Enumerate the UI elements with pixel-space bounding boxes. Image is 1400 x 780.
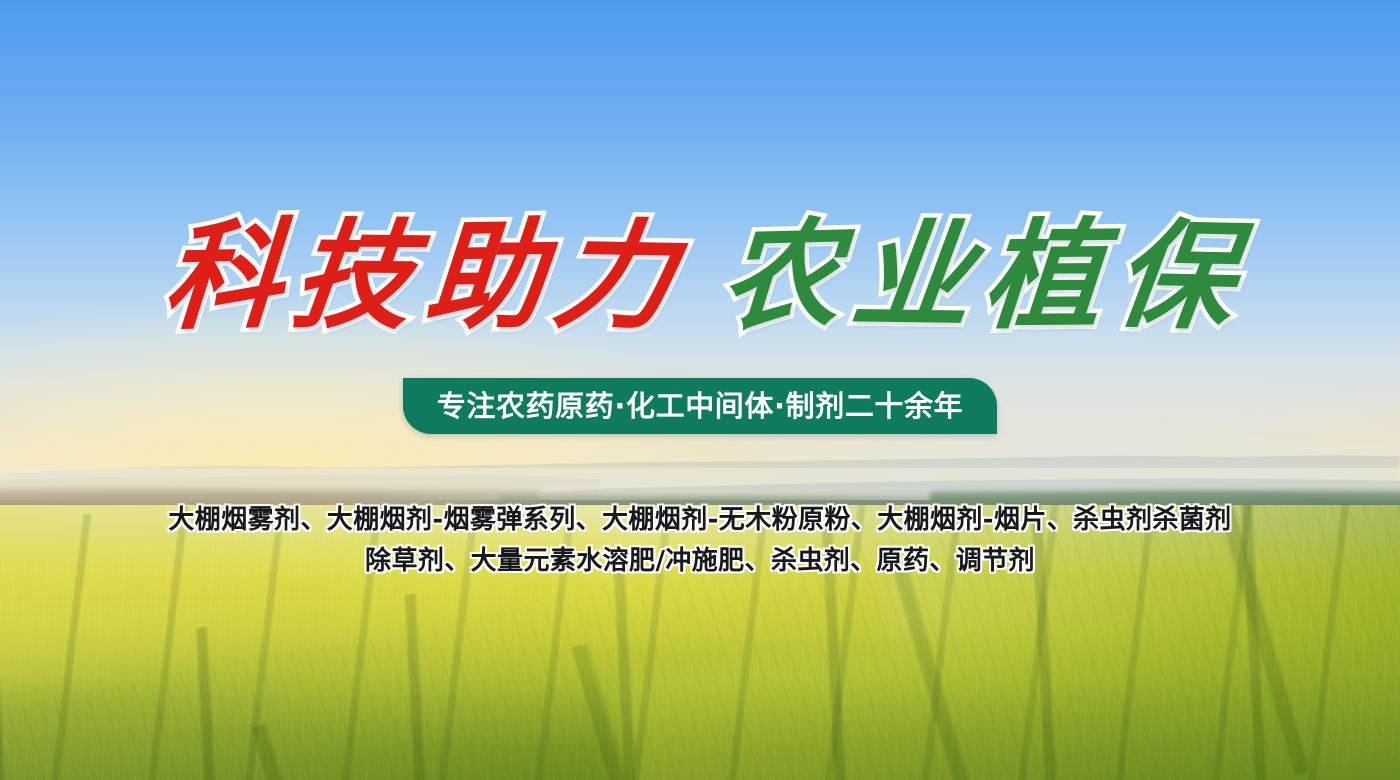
- subtitle-pill: 专注农药原药·化工中间体·制剂二十余年: [403, 378, 997, 434]
- title-char-1: 科: [159, 205, 288, 347]
- hero-banner: 科技助力农业植保 专注农药原药·化工中间体·制剂二十余年 大棚烟雾剂、大棚烟剂-…: [0, 0, 1400, 780]
- title-char-5: 农: [718, 204, 847, 346]
- title-char-8: 保: [1108, 205, 1246, 346]
- product-line-1: 大棚烟雾剂、大棚烟剂-烟雾弹系列、大棚烟剂-无木粉原粉、大棚烟剂-烟片、杀虫剂杀…: [0, 500, 1400, 541]
- title-char-6: 业: [846, 205, 983, 346]
- product-list: 大棚烟雾剂、大棚烟剂-烟雾弹系列、大棚烟剂-无木粉原粉、大棚烟剂-烟片、杀虫剂杀…: [0, 500, 1400, 582]
- title-char-4: 力: [546, 205, 686, 346]
- banner-title: 科技助力农业植保: [0, 206, 1400, 345]
- product-line-2: 除草剂、大量元素水溶肥/冲施肥、杀虫剂、原药、调节剂: [0, 541, 1400, 582]
- title-char-3: 助: [421, 205, 551, 346]
- title-char-7: 植: [979, 205, 1110, 345]
- subtitle-pill-wrapper: 专注农药原药·化工中间体·制剂二十余年: [0, 378, 1400, 434]
- subtitle-text: 专注农药原药·化工中间体·制剂二十余年: [437, 392, 963, 421]
- title-char-2: 技: [286, 205, 422, 345]
